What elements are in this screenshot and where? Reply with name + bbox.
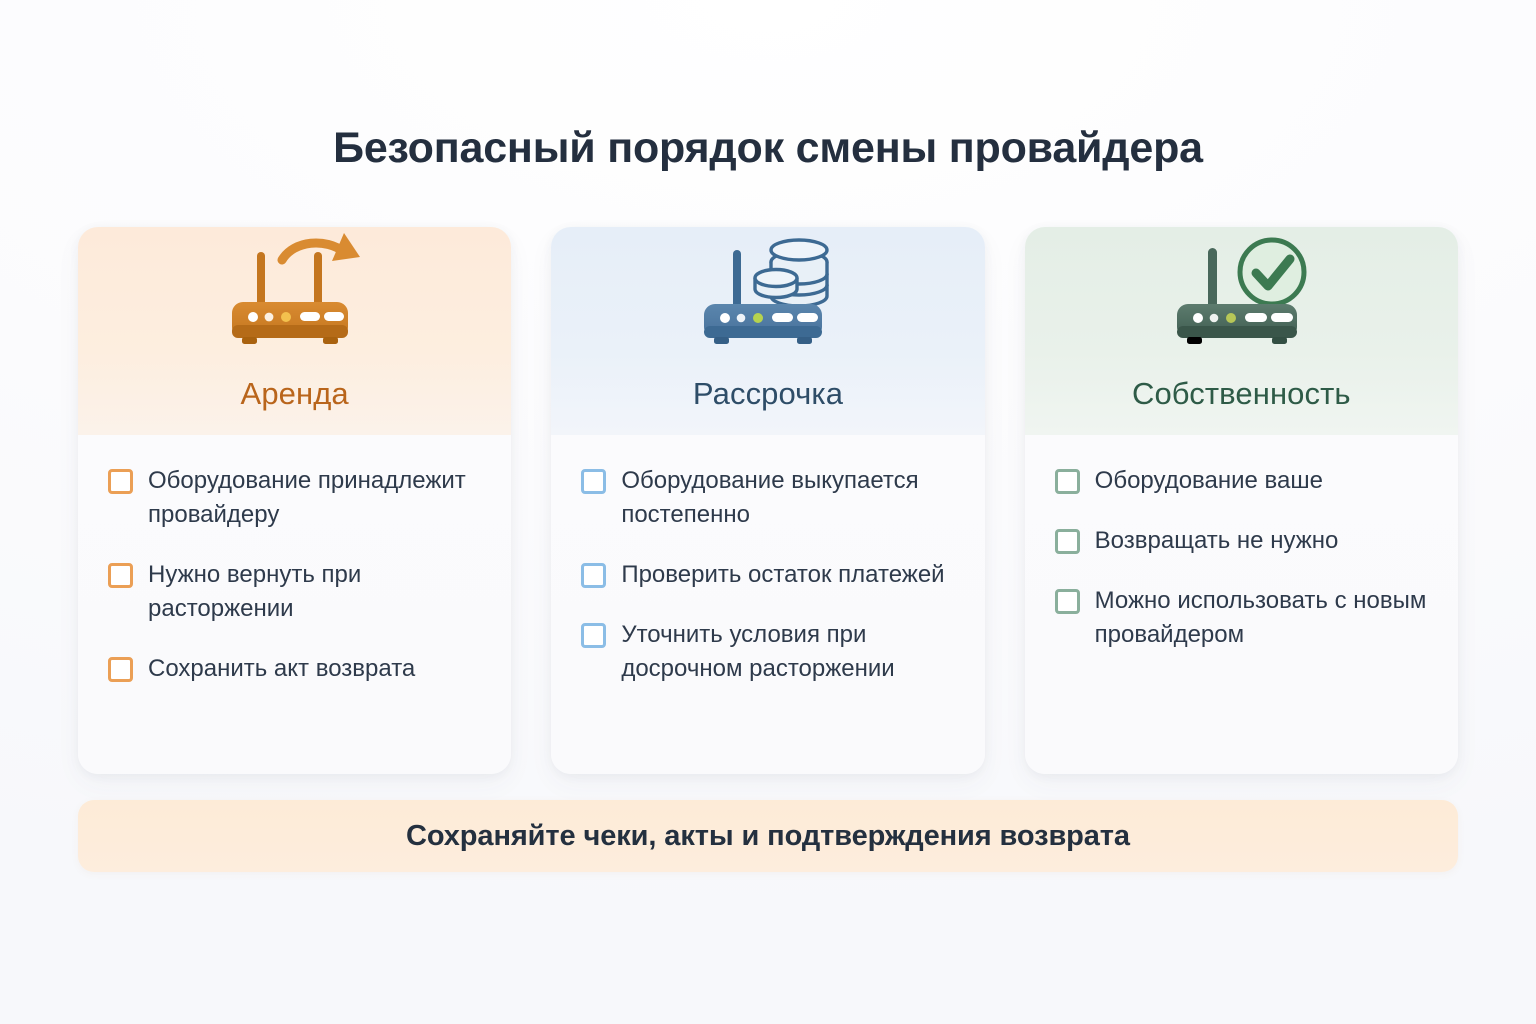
list-item-label: Проверить остаток платежей: [621, 558, 944, 592]
card-installment-body: Оборудование выкупается постепенно Прове…: [551, 435, 984, 774]
list-item-label: Оборудование ваше: [1095, 464, 1323, 498]
card-installment[interactable]: Рассрочка Оборудование выкупается постеп…: [551, 227, 984, 774]
list-item-label: Оборудование выкупается постепенно: [621, 464, 958, 532]
checkbox-icon[interactable]: [1055, 589, 1080, 614]
list-item[interactable]: Оборудование принадлежит провайдеру: [108, 464, 485, 532]
list-item-label: Оборудование принадлежит провайдеру: [148, 464, 485, 532]
router-check-badge-icon: [1166, 230, 1316, 348]
card-ownership-header: Собственность: [1025, 352, 1458, 435]
checkbox-icon[interactable]: [108, 469, 133, 494]
card-installment-header: Рассрочка: [551, 352, 984, 435]
checkbox-icon[interactable]: [108, 657, 133, 682]
card-rent-body: Оборудование принадлежит провайдеру Нужн…: [78, 435, 511, 774]
list-item[interactable]: Можно использовать с новым провайдером: [1055, 584, 1432, 652]
list-item[interactable]: Проверить остаток платежей: [581, 558, 958, 592]
card-installment-title: Рассрочка: [693, 376, 843, 412]
list-item[interactable]: Оборудование выкупается постепенно: [581, 464, 958, 532]
card-ownership-list: Оборудование ваше Возвращать не нужно Мо…: [1055, 464, 1432, 652]
checkbox-icon[interactable]: [581, 563, 606, 588]
card-ownership-icon-band: [1025, 227, 1458, 352]
card-ownership-title: Собственность: [1132, 376, 1351, 412]
card-rent-icon-band: [78, 227, 511, 352]
checkbox-icon[interactable]: [581, 469, 606, 494]
router-coins-icon: [693, 230, 843, 348]
router-return-arrow-icon: [220, 230, 370, 348]
list-item[interactable]: Возвращать не нужно: [1055, 524, 1432, 558]
list-item-label: Сохранить акт возврата: [148, 652, 415, 686]
list-item-label: Можно использовать с новым провайдером: [1095, 584, 1432, 652]
page-title: Безопасный порядок смены провайдера: [0, 125, 1536, 172]
list-item[interactable]: Оборудование ваше: [1055, 464, 1432, 498]
card-rent[interactable]: Аренда Оборудование принадлежит провайде…: [78, 227, 511, 774]
card-rent-header: Аренда: [78, 352, 511, 435]
card-ownership[interactable]: Собственность Оборудование ваше Возвраща…: [1025, 227, 1458, 774]
list-item-label: Уточнить условия при досрочном расторжен…: [621, 618, 958, 686]
card-rent-list: Оборудование принадлежит провайдеру Нужн…: [108, 464, 485, 686]
list-item[interactable]: Уточнить условия при досрочном расторжен…: [581, 618, 958, 686]
checkbox-icon[interactable]: [1055, 469, 1080, 494]
list-item-label: Возвращать не нужно: [1095, 524, 1339, 558]
list-item-label: Нужно вернуть при расторжении: [148, 558, 485, 626]
checkbox-icon[interactable]: [1055, 529, 1080, 554]
footer-banner: Сохраняйте чеки, акты и подтверждения во…: [78, 800, 1458, 872]
list-item[interactable]: Сохранить акт возврата: [108, 652, 485, 686]
infographic-page: Безопасный порядок смены провайдера: [0, 0, 1536, 1024]
checkbox-icon[interactable]: [581, 623, 606, 648]
cards-row: Аренда Оборудование принадлежит провайде…: [78, 227, 1458, 774]
list-item[interactable]: Нужно вернуть при расторжении: [108, 558, 485, 626]
card-installment-list: Оборудование выкупается постепенно Прове…: [581, 464, 958, 686]
card-rent-title: Аренда: [241, 376, 349, 412]
footer-banner-text: Сохраняйте чеки, акты и подтверждения во…: [406, 820, 1130, 853]
checkbox-icon[interactable]: [108, 563, 133, 588]
card-installment-icon-band: [551, 227, 984, 352]
card-ownership-body: Оборудование ваше Возвращать не нужно Мо…: [1025, 435, 1458, 774]
